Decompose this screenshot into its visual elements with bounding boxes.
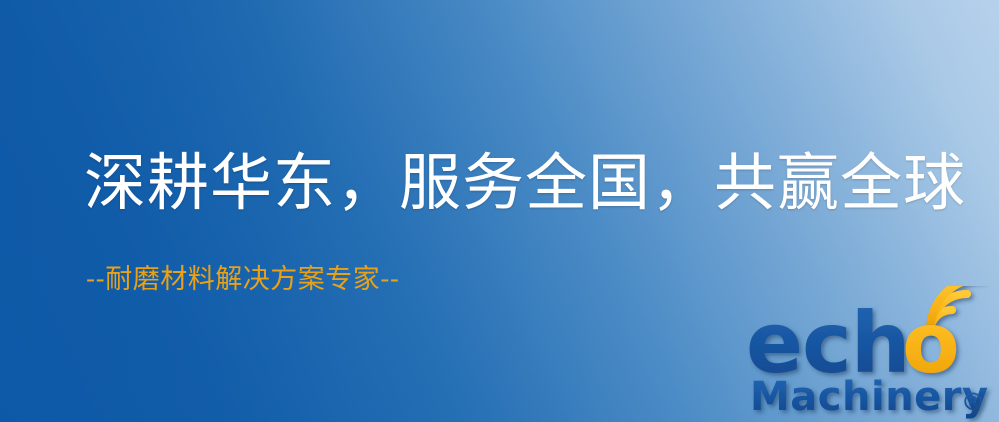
echo-machinery-logo[interactable]: ech o Machinery ®	[742, 286, 999, 422]
logo-machinery-text: Machinery	[750, 374, 989, 420]
svg-text:®: ®	[961, 388, 985, 416]
hero-banner: 深耕华东，服务全国，共赢全球 --耐磨材料解决方案专家--	[0, 0, 999, 422]
registered-trademark-icon: ®	[961, 388, 985, 416]
banner-subtitle: --耐磨材料解决方案专家--	[86, 266, 400, 293]
svg-text:Machinery: Machinery	[750, 374, 989, 420]
banner-headline: 深耕华东，服务全国，共赢全球	[84, 152, 966, 214]
